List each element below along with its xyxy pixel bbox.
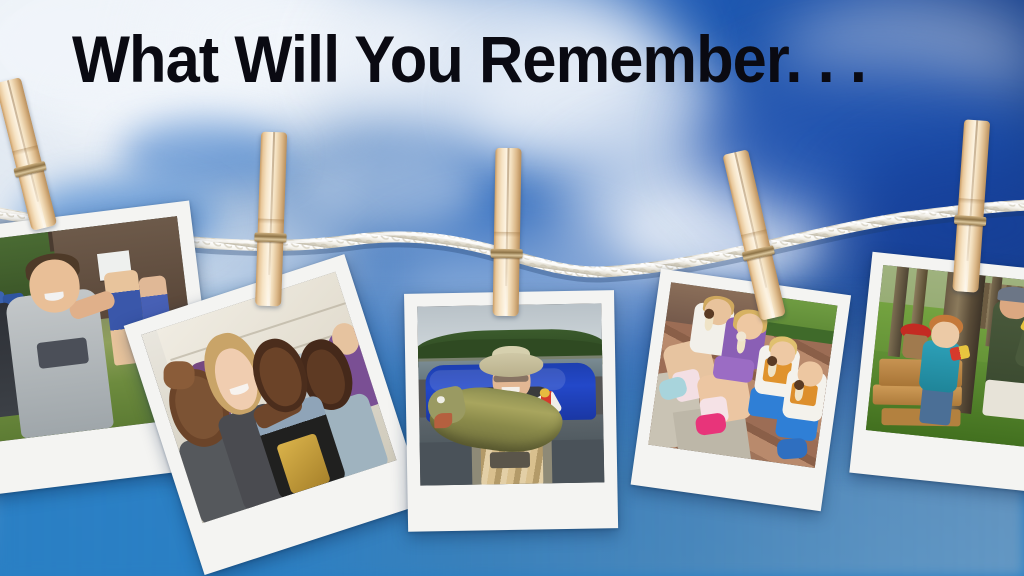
photo-3-image xyxy=(417,303,604,485)
photo-2-image xyxy=(141,272,396,523)
page-title: What Will You Remember. . . xyxy=(72,26,866,92)
list-item[interactable] xyxy=(849,252,1024,493)
list-item[interactable] xyxy=(404,290,618,532)
photo-5-image xyxy=(866,265,1024,448)
clothespin-3 xyxy=(493,148,522,316)
promo-banner: What Will You Remember. . . xyxy=(0,0,1024,576)
photo-4-image xyxy=(648,282,837,468)
list-item[interactable] xyxy=(631,269,851,512)
